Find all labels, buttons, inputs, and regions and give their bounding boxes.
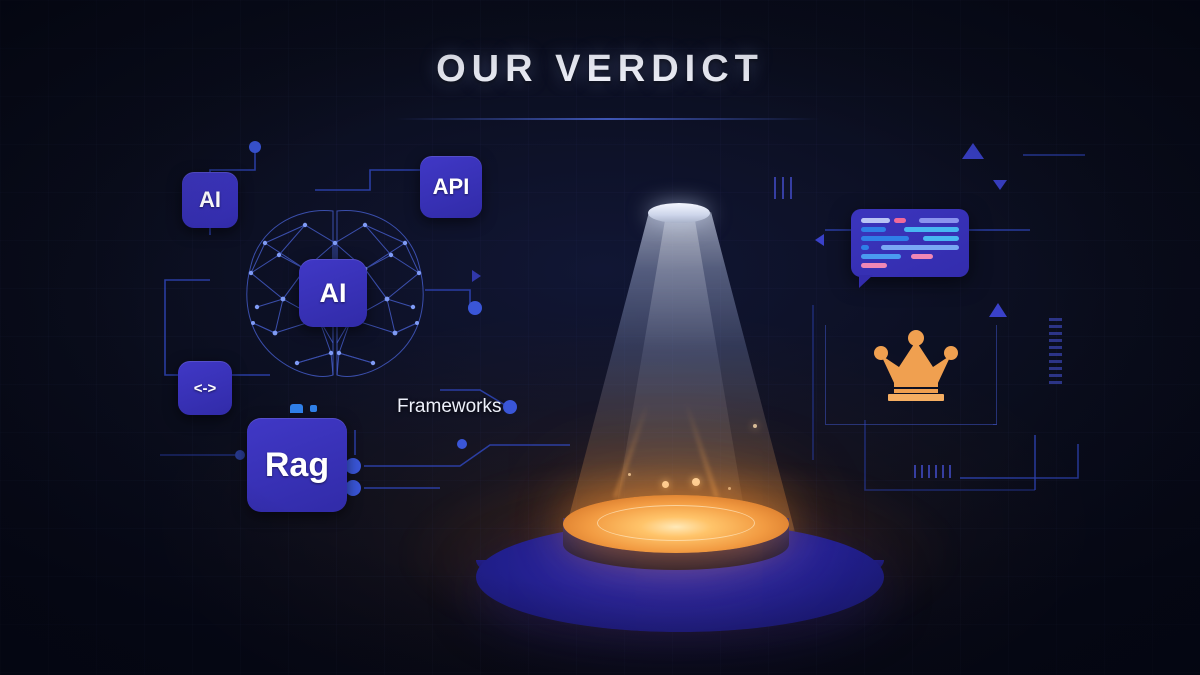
circuit-trace-rag (340, 400, 570, 520)
spotlight-lamp-icon (648, 203, 710, 223)
code-line (861, 236, 959, 241)
code-segment (894, 218, 906, 223)
code-segment (861, 227, 886, 232)
code-segment (919, 218, 959, 223)
triangle-down-icon (993, 180, 1007, 190)
triangle-left-icon (815, 234, 824, 246)
code-segment (911, 254, 933, 259)
badge-ai-small[interactable]: AI (182, 172, 238, 228)
code-segment (861, 254, 901, 259)
code-segment (861, 245, 869, 250)
page-title-wrap: OUR VERDICT (0, 48, 1200, 91)
code-segment (861, 218, 890, 223)
tick-bar-top-left-hud (774, 177, 792, 199)
code-line (861, 254, 959, 259)
code-lines (861, 218, 959, 268)
triangle-up-icon (962, 143, 984, 159)
code-line (861, 218, 959, 223)
code-line (861, 227, 959, 232)
podium-riser-ring (597, 505, 755, 541)
code-line (861, 263, 959, 268)
title-divider (395, 118, 820, 120)
code-chat-bubble-icon[interactable] (851, 209, 969, 277)
light-particle (662, 481, 669, 488)
code-segment (910, 218, 915, 223)
code-segment (913, 236, 919, 241)
light-particle (692, 478, 700, 486)
code-segment (881, 245, 959, 250)
tick-bar-bottom-hud (914, 465, 951, 478)
badge-ai-main[interactable]: AI (299, 259, 367, 327)
code-segment (861, 263, 887, 268)
badge-rag[interactable]: Rag (247, 418, 347, 512)
badge-code[interactable]: <-> (178, 361, 232, 415)
code-segment (923, 236, 959, 241)
light-particle (728, 487, 731, 490)
scene-canvas: OUR VERDICT AI API AI <-> Rag Frameworks (0, 0, 1200, 675)
dash-stack-right-hud (1049, 318, 1062, 384)
code-segment (905, 254, 907, 259)
badge-api[interactable]: API (420, 156, 482, 218)
chip-marker-right (310, 405, 317, 412)
circuit-trace-bottom-right (960, 440, 1180, 530)
triangle-up-arrow-icon (989, 303, 1007, 317)
frameworks-label: Frameworks (397, 396, 502, 418)
code-segment (873, 245, 877, 250)
light-particle (753, 424, 757, 428)
chip-marker-left (290, 404, 303, 413)
triangle-right-icon (472, 270, 481, 282)
crown-icon (869, 323, 963, 401)
circuit-trace-right (795, 130, 1195, 530)
light-particle (628, 473, 631, 476)
crown-frame-right (993, 325, 997, 425)
code-segment (861, 236, 909, 241)
code-segment (904, 227, 959, 232)
page-title: OUR VERDICT (436, 48, 764, 91)
code-line (861, 245, 959, 250)
code-segment (890, 227, 900, 232)
